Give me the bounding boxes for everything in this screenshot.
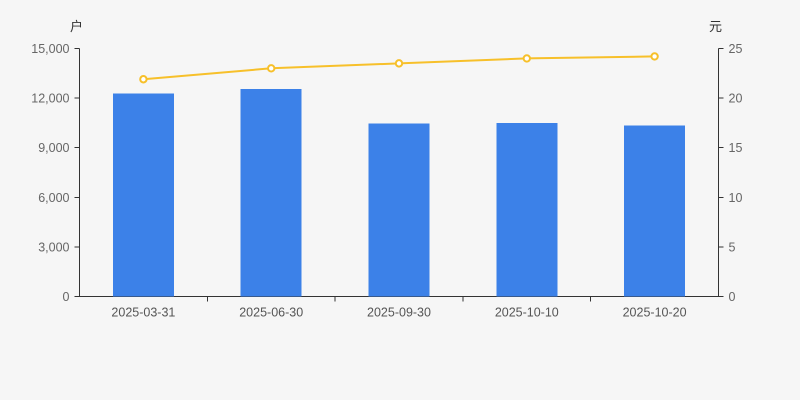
right-axis-tick-label: 15 — [729, 141, 743, 155]
left-axis-tick-label: 6,000 — [38, 191, 69, 205]
bar-2025-06-30[interactable] — [241, 89, 302, 296]
left-axis: 03,0006,0009,00012,00015,000 — [31, 42, 79, 304]
bar-2025-10-20[interactable] — [624, 126, 685, 297]
left-axis-tick-label: 3,000 — [38, 240, 69, 254]
line-marker-2025-09-30[interactable] — [396, 60, 402, 66]
x-axis-labels: 2025-03-312025-06-302025-09-302025-10-10… — [111, 306, 686, 320]
bar-2025-10-10[interactable] — [496, 123, 557, 296]
x-axis-category-label: 2025-09-30 — [367, 306, 431, 320]
left-axis-tick-label: 15,000 — [31, 42, 69, 56]
right-axis-tick-label: 10 — [729, 191, 743, 205]
x-axis-category-label: 2025-10-20 — [623, 306, 687, 320]
x-axis-category-label: 2025-10-10 — [495, 306, 559, 320]
line-marker-2025-10-20[interactable] — [651, 53, 657, 59]
chart-container: 户 元 03,0006,0009,00012,00015,000 0510152… — [0, 0, 800, 400]
line-marker-2025-10-10[interactable] — [524, 55, 530, 61]
bar-2025-09-30[interactable] — [369, 123, 430, 296]
x-axis — [80, 297, 719, 302]
left-axis-tick-label: 9,000 — [38, 141, 69, 155]
bar-series — [113, 89, 685, 296]
right-axis-tick-label: 0 — [729, 290, 736, 304]
line-series — [140, 53, 658, 82]
right-axis-tick-label: 25 — [729, 42, 743, 56]
x-axis-category-label: 2025-06-30 — [239, 306, 303, 320]
left-axis-tick-label: 12,000 — [31, 92, 69, 106]
right-axis-tick-label: 20 — [729, 92, 743, 106]
left-axis-tick-label: 0 — [63, 290, 70, 304]
line-marker-2025-06-30[interactable] — [268, 65, 274, 71]
line-marker-2025-03-31[interactable] — [140, 76, 146, 82]
chart-plot-area: 03,0006,0009,00012,00015,000 0510152025 … — [0, 0, 800, 400]
bar-2025-03-31[interactable] — [113, 93, 174, 296]
right-axis: 0510152025 — [719, 42, 743, 304]
right-axis-tick-label: 5 — [729, 240, 736, 254]
x-axis-category-label: 2025-03-31 — [111, 306, 175, 320]
